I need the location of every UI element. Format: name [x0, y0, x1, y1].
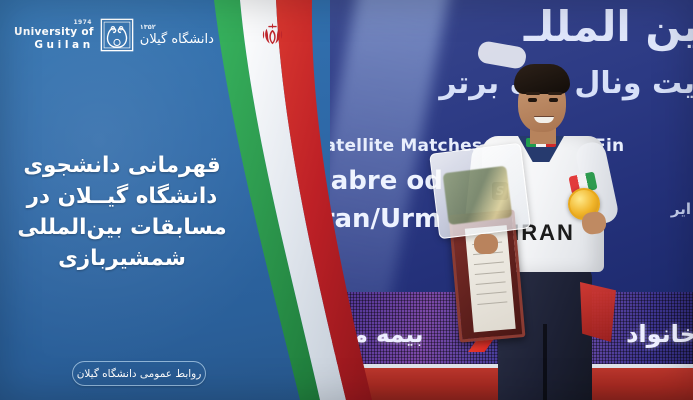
university-logo[interactable]: 1974 University of Guilan ۱۳۵۲ دانشگاه گ… — [14, 18, 214, 52]
backdrop-persian-line-1: ین المللـ — [524, 2, 693, 51]
gift-bag-icon — [429, 143, 531, 240]
led-sponsor-persian: بیمه ملت — [320, 322, 423, 348]
athlete-eye-left — [528, 98, 537, 102]
public-relations-badge[interactable]: روابط عمومی دانشگاه گیلان — [72, 361, 206, 386]
logo-line-1: University of — [14, 27, 94, 38]
athlete-eye-right — [549, 98, 558, 102]
athlete-photo: ین المللـ یت و‌نال لیگ برتر Satellite Ma… — [290, 0, 693, 400]
headline-line-1: قهرمانی دانشجوی — [8, 150, 236, 181]
guilan-crest-icon — [100, 18, 134, 52]
athlete-figure: S IRAN — [460, 52, 640, 400]
athlete-hair — [514, 64, 570, 94]
page-title: قهرمانی دانشجوی دانشگاه گیــلان در مسابق… — [8, 150, 236, 274]
headline-line-4: شمشیربازی — [8, 243, 236, 274]
news-banner: ین المللـ یت و‌نال لیگ برتر Satellite Ma… — [0, 0, 693, 400]
logo-english-text: 1974 University of Guilan — [14, 20, 94, 50]
logo-year-persian: ۱۳۵۲ — [140, 24, 156, 31]
logo-persian-name: دانشگاه گیلان — [140, 33, 214, 46]
athlete-left-hand — [474, 234, 498, 254]
pr-badge-label: روابط عمومی دانشگاه گیلان — [77, 368, 202, 380]
backdrop-english-line-3: Iran/Urm — [312, 204, 441, 234]
athlete-brow-right — [548, 92, 562, 95]
headline-line-2: دانشگاه گیــلان در — [8, 181, 236, 212]
backdrop-persian-small: ایر — [671, 200, 691, 218]
logo-line-2: Guilan — [34, 40, 93, 51]
headline-line-3: مسابقات بین‌المللی — [8, 212, 236, 243]
athlete-brow-left — [526, 92, 540, 95]
logo-persian-block: ۱۳۵۲ دانشگاه گیلان — [140, 24, 214, 47]
gift-bag-contents — [443, 166, 513, 225]
held-flag — [580, 282, 616, 342]
backdrop-english-line-2: Sabre od — [312, 166, 443, 196]
